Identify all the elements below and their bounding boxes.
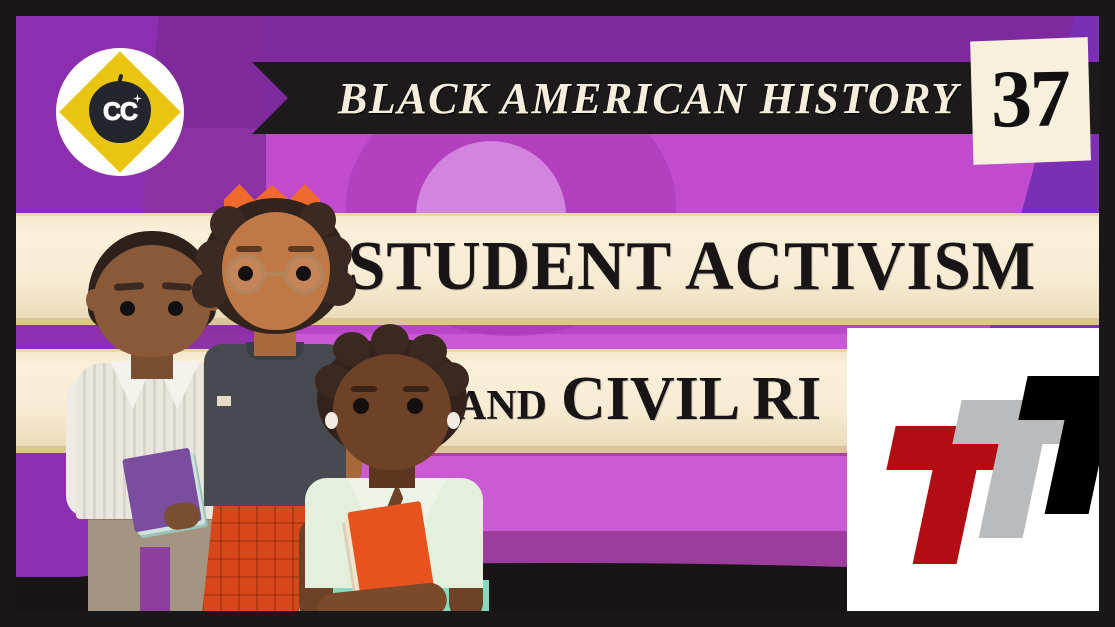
girl1-brow-left (236, 246, 262, 252)
ttt-letter-black (1023, 376, 1099, 514)
boy-eye-left (120, 301, 135, 316)
title-line-2: AND CIVIL RI (456, 364, 821, 435)
girl2-brow-right (403, 386, 429, 392)
girl1-brow-right (288, 246, 314, 252)
girl2-head (333, 354, 451, 470)
artwork-canvas: STUDENT ACTIVISM AND CIVIL RI (16, 16, 1099, 611)
title-line-2-main: CIVIL RI (561, 364, 821, 435)
ttt-logo-panel (847, 328, 1099, 611)
girl2-brow-left (351, 386, 377, 392)
girl2-eye-left (353, 398, 369, 414)
girl1-eye-left (238, 266, 253, 281)
crash-course-apple-logo: CC (56, 48, 184, 176)
episode-number-badge: 37 (969, 37, 1091, 165)
girl2-hair-bun (371, 324, 409, 358)
title-line-1: STUDENT ACTIVISM (348, 227, 1036, 307)
girl1-eye-right (296, 266, 311, 281)
apple-icon: CC (89, 81, 151, 143)
girl2-eye-right (407, 398, 423, 414)
tee-stem (1045, 416, 1099, 514)
girl1-strap-buckle-left (217, 396, 231, 406)
girl2-earring-right (447, 412, 460, 429)
logo-monogram: CC (103, 98, 137, 127)
series-title-text: BLACK AMERICAN HISTORY (338, 73, 960, 124)
boy-ear-left (86, 289, 101, 311)
video-thumbnail: STUDENT ACTIVISM AND CIVIL RI (0, 0, 1115, 627)
episode-number-text: 37 (990, 57, 1069, 140)
boy-eye-right (168, 301, 183, 316)
student-girl-front (299, 338, 489, 611)
tee-crossbar (1018, 376, 1099, 420)
girl1-glasses-bridge (266, 272, 284, 276)
girl2-earring-left (325, 412, 338, 429)
